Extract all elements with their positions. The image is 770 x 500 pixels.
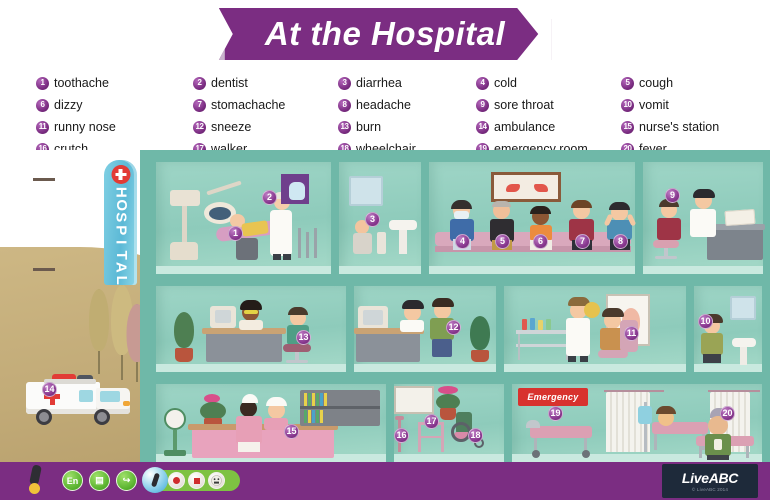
vocab-label: dentist bbox=[211, 76, 248, 90]
badge-wheelchair[interactable]: 18 bbox=[468, 428, 483, 443]
vocab-label: sneeze bbox=[211, 120, 251, 134]
stop-button[interactable] bbox=[188, 472, 205, 489]
sign-arm bbox=[33, 178, 55, 181]
vocab-label: vomit bbox=[639, 98, 669, 112]
vocab-item-ambulance[interactable]: 14 ambulance bbox=[476, 118, 621, 136]
badge-dentist[interactable]: 2 bbox=[262, 190, 277, 205]
liveabc-logo: LiveABC © LiveABC 2014 bbox=[662, 464, 758, 498]
vocab-item-stomachache[interactable]: 7 stomachache bbox=[193, 96, 338, 114]
en-dictionary-icon[interactable]: En bbox=[62, 470, 83, 491]
hospital-illustration: 14 HOSPITAL bbox=[0, 150, 770, 462]
tree-icon bbox=[88, 289, 110, 374]
vocab-number-icon: 6 bbox=[36, 99, 49, 112]
badge-crutch[interactable]: 16 bbox=[394, 428, 409, 443]
microphone-icon[interactable] bbox=[142, 467, 168, 493]
vocab-item-diarrhea[interactable]: 3 diarrhea bbox=[338, 74, 476, 92]
vocab-number-icon: 13 bbox=[338, 121, 351, 134]
badge-vomit[interactable]: 10 bbox=[698, 314, 713, 329]
badge-nurses-station[interactable]: 15 bbox=[284, 424, 299, 439]
red-cross-icon bbox=[111, 165, 130, 184]
vocab-number-icon: 10 bbox=[621, 99, 634, 112]
room-ent: 11 bbox=[504, 286, 686, 372]
vocab-number-icon: 7 bbox=[193, 99, 206, 112]
vocab-number-icon: 5 bbox=[621, 77, 634, 90]
vocab-item-sneeze[interactable]: 12 sneeze bbox=[193, 118, 338, 136]
room-restroom: 3 bbox=[339, 162, 421, 274]
banner-tail-left bbox=[205, 19, 225, 60]
vocab-item-headache[interactable]: 8 headache bbox=[338, 96, 476, 114]
vocab-item-vomit[interactable]: 10 vomit bbox=[621, 96, 748, 114]
vocab-number-icon: 12 bbox=[193, 121, 206, 134]
pen-icon[interactable] bbox=[28, 465, 42, 495]
badge-stomachache[interactable]: 7 bbox=[575, 234, 590, 249]
badge-diarrhea[interactable]: 3 bbox=[365, 212, 380, 227]
vocab-item-dentist[interactable]: 2 dentist bbox=[193, 74, 338, 92]
vocab-item-nurses-station[interactable]: 15 nurse's station bbox=[621, 118, 748, 136]
page-title: At the Hospital bbox=[265, 15, 505, 53]
vocab-label: sore throat bbox=[494, 98, 554, 112]
vocab-label: burn bbox=[356, 120, 381, 134]
bottom-toolbar: En ▤ ↪ LiveABC © LiveABC 2014 bbox=[0, 462, 770, 500]
face-button[interactable] bbox=[208, 472, 225, 489]
export-icon[interactable]: ↪ bbox=[116, 470, 137, 491]
badge-ambulance[interactable]: 14 bbox=[42, 382, 57, 397]
hospital-sign-letters: HOSPITAL bbox=[104, 186, 137, 285]
vocab-label: cold bbox=[494, 76, 517, 90]
vocab-number-icon: 1 bbox=[36, 77, 49, 90]
emergency-sign: Emergency bbox=[518, 388, 588, 406]
badge-sneeze[interactable]: 12 bbox=[446, 320, 461, 335]
vocab-label: ambulance bbox=[494, 120, 555, 134]
room-doctor-office: 9 bbox=[643, 162, 763, 274]
vocab-number-icon: 8 bbox=[338, 99, 351, 112]
badge-walker[interactable]: 17 bbox=[424, 414, 439, 429]
vocab-number-icon: 3 bbox=[338, 77, 351, 90]
logo-copyright: © LiveABC 2014 bbox=[692, 487, 728, 492]
vocab-item-toothache[interactable]: 1 toothache bbox=[36, 74, 193, 92]
title-banner: At the Hospital bbox=[0, 8, 770, 60]
room-waiting: 4 5 6 7 8 bbox=[429, 162, 635, 274]
badge-cough[interactable]: 5 bbox=[495, 234, 510, 249]
vocab-number-icon: 11 bbox=[36, 121, 49, 134]
ambulance: 14 bbox=[24, 368, 136, 426]
vocab-number-icon: 2 bbox=[193, 77, 206, 90]
badge-cold[interactable]: 4 bbox=[455, 234, 470, 249]
face-icon bbox=[211, 475, 222, 486]
vocab-item-cold[interactable]: 4 cold bbox=[476, 74, 621, 92]
badge-burn[interactable]: 13 bbox=[296, 330, 311, 345]
vocab-item-burn[interactable]: 13 burn bbox=[338, 118, 476, 136]
vocab-label: stomachache bbox=[211, 98, 285, 112]
hospital-building: 1 2 3 bbox=[140, 150, 770, 462]
vocab-number-icon: 15 bbox=[621, 121, 634, 134]
room-office-burn: 13 bbox=[156, 286, 346, 372]
vocab-number-icon: 4 bbox=[476, 77, 489, 90]
sign-arm bbox=[33, 268, 55, 271]
vocabulary-list: 1 toothache 2 dentist 3 diarrhea 4 cold … bbox=[36, 74, 748, 158]
room-mobility-aids: 16 17 18 bbox=[394, 384, 504, 462]
vocab-label: diarrhea bbox=[356, 76, 402, 90]
vocab-item-sore-throat[interactable]: 9 sore throat bbox=[476, 96, 621, 114]
badge-sore-throat[interactable]: 9 bbox=[665, 188, 680, 203]
badge-toothache[interactable]: 1 bbox=[228, 226, 243, 241]
banner-tail-right bbox=[545, 19, 565, 60]
room-vomit: 10 bbox=[694, 286, 762, 372]
badge-emergency-room[interactable]: 19 bbox=[548, 406, 563, 421]
tooth-poster bbox=[281, 174, 309, 204]
vocab-number-icon: 9 bbox=[476, 99, 489, 112]
room-sneeze: 12 bbox=[354, 286, 496, 372]
vocab-label: dizzy bbox=[54, 98, 82, 112]
hospital-sign: HOSPITAL bbox=[104, 160, 137, 285]
vocab-label: nurse's station bbox=[639, 120, 719, 134]
vocab-item-cough[interactable]: 5 cough bbox=[621, 74, 748, 92]
badge-runny-nose[interactable]: 11 bbox=[624, 326, 639, 341]
logo-text: LiveABC bbox=[682, 471, 738, 485]
notebook-icon[interactable]: ▤ bbox=[89, 470, 110, 491]
badge-fever[interactable]: 20 bbox=[720, 406, 735, 421]
bird-picture bbox=[491, 172, 561, 202]
vocab-item-dizzy[interactable]: 6 dizzy bbox=[36, 96, 193, 114]
vocab-item-runny-nose[interactable]: 11 runny nose bbox=[36, 118, 193, 136]
record-button[interactable] bbox=[168, 472, 185, 489]
room-dentist: 1 2 bbox=[156, 162, 331, 274]
vocab-number-icon: 14 bbox=[476, 121, 489, 134]
banner-shape: At the Hospital bbox=[219, 8, 551, 60]
vocab-label: cough bbox=[639, 76, 673, 90]
room-nurses-station: 15 bbox=[156, 384, 386, 462]
vocab-label: runny nose bbox=[54, 120, 116, 134]
tool-group: En ▤ ↪ bbox=[62, 470, 137, 491]
badge-dizzy[interactable]: 6 bbox=[533, 234, 548, 249]
badge-headache[interactable]: 8 bbox=[613, 234, 628, 249]
vocab-label: toothache bbox=[54, 76, 109, 90]
vocab-label: headache bbox=[356, 98, 411, 112]
